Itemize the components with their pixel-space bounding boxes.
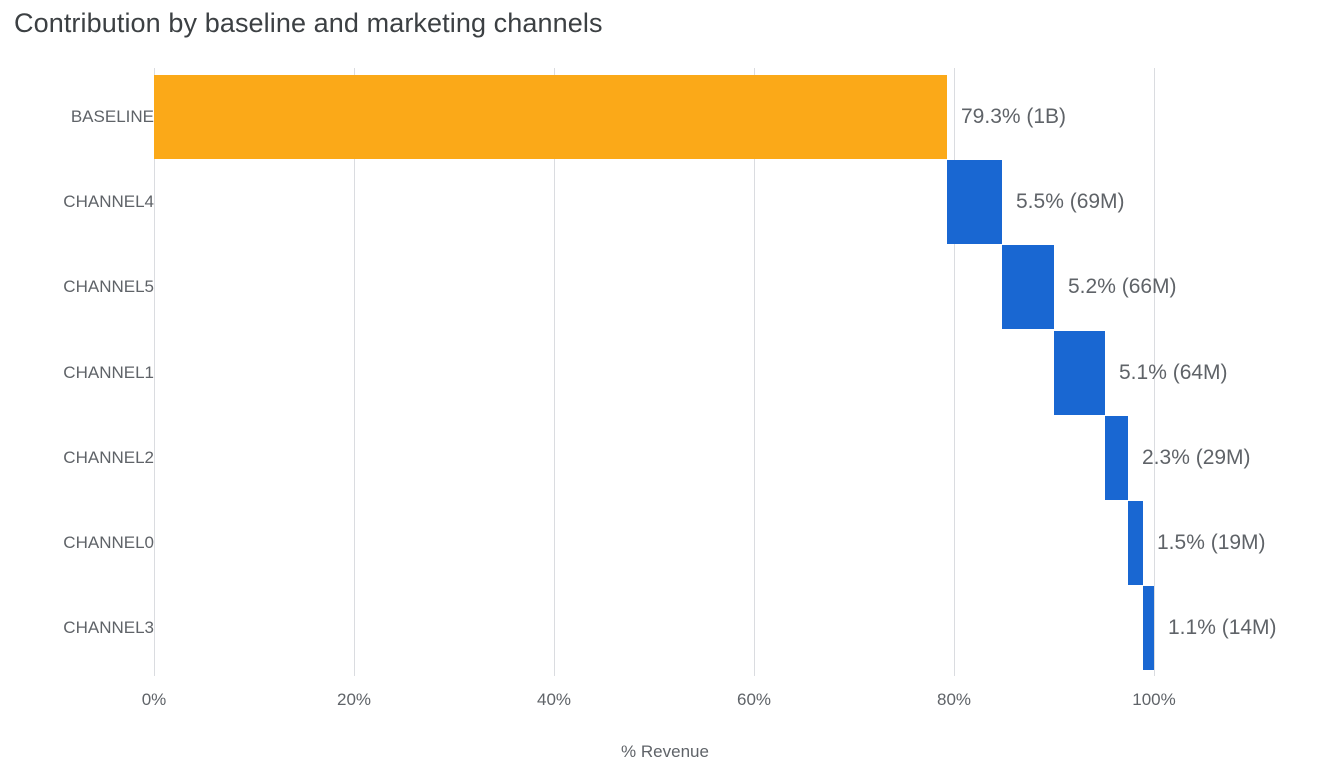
- x-tick-label: 60%: [737, 690, 771, 710]
- y-axis-label-channel5: CHANNEL5: [63, 245, 154, 329]
- gridline: [154, 68, 155, 676]
- x-axis-title: % Revenue: [0, 742, 1330, 762]
- bar-channel4[interactable]: [947, 160, 1002, 244]
- bar-channel1[interactable]: [1054, 331, 1105, 415]
- plot-area: 79.3% (1B)5.5% (69M)5.2% (66M)5.1% (64M)…: [154, 68, 1154, 676]
- bar-channel3[interactable]: [1143, 586, 1154, 670]
- x-tick-label: 20%: [337, 690, 371, 710]
- y-axis-label-channel1: CHANNEL1: [63, 331, 154, 415]
- bar-channel5[interactable]: [1002, 245, 1054, 329]
- value-label-channel5: 5.2% (66M): [1068, 245, 1177, 329]
- value-label-channel4: 5.5% (69M): [1016, 160, 1125, 244]
- value-label-channel3: 1.1% (14M): [1168, 586, 1277, 670]
- gridline: [954, 68, 955, 676]
- y-axis-label-baseline: BASELINE: [71, 75, 154, 159]
- x-tick-label: 80%: [937, 690, 971, 710]
- value-label-channel2: 2.3% (29M): [1142, 416, 1251, 500]
- gridline: [354, 68, 355, 676]
- x-tick-label: 100%: [1132, 690, 1175, 710]
- y-axis-label-channel2: CHANNEL2: [63, 416, 154, 500]
- y-axis-label-channel0: CHANNEL0: [63, 501, 154, 585]
- x-tick-label: 40%: [537, 690, 571, 710]
- value-label-channel0: 1.5% (19M): [1157, 501, 1266, 585]
- bar-channel0[interactable]: [1128, 501, 1143, 585]
- y-axis-label-channel4: CHANNEL4: [63, 160, 154, 244]
- chart-title: Contribution by baseline and marketing c…: [14, 8, 603, 39]
- value-label-baseline: 79.3% (1B): [961, 75, 1066, 159]
- waterfall-chart: Contribution by baseline and marketing c…: [0, 0, 1330, 781]
- gridline: [554, 68, 555, 676]
- value-label-channel1: 5.1% (64M): [1119, 331, 1228, 415]
- gridline: [754, 68, 755, 676]
- bar-channel2[interactable]: [1105, 416, 1128, 500]
- x-tick-label: 0%: [142, 690, 167, 710]
- y-axis-label-channel3: CHANNEL3: [63, 586, 154, 670]
- bar-baseline[interactable]: [154, 75, 947, 159]
